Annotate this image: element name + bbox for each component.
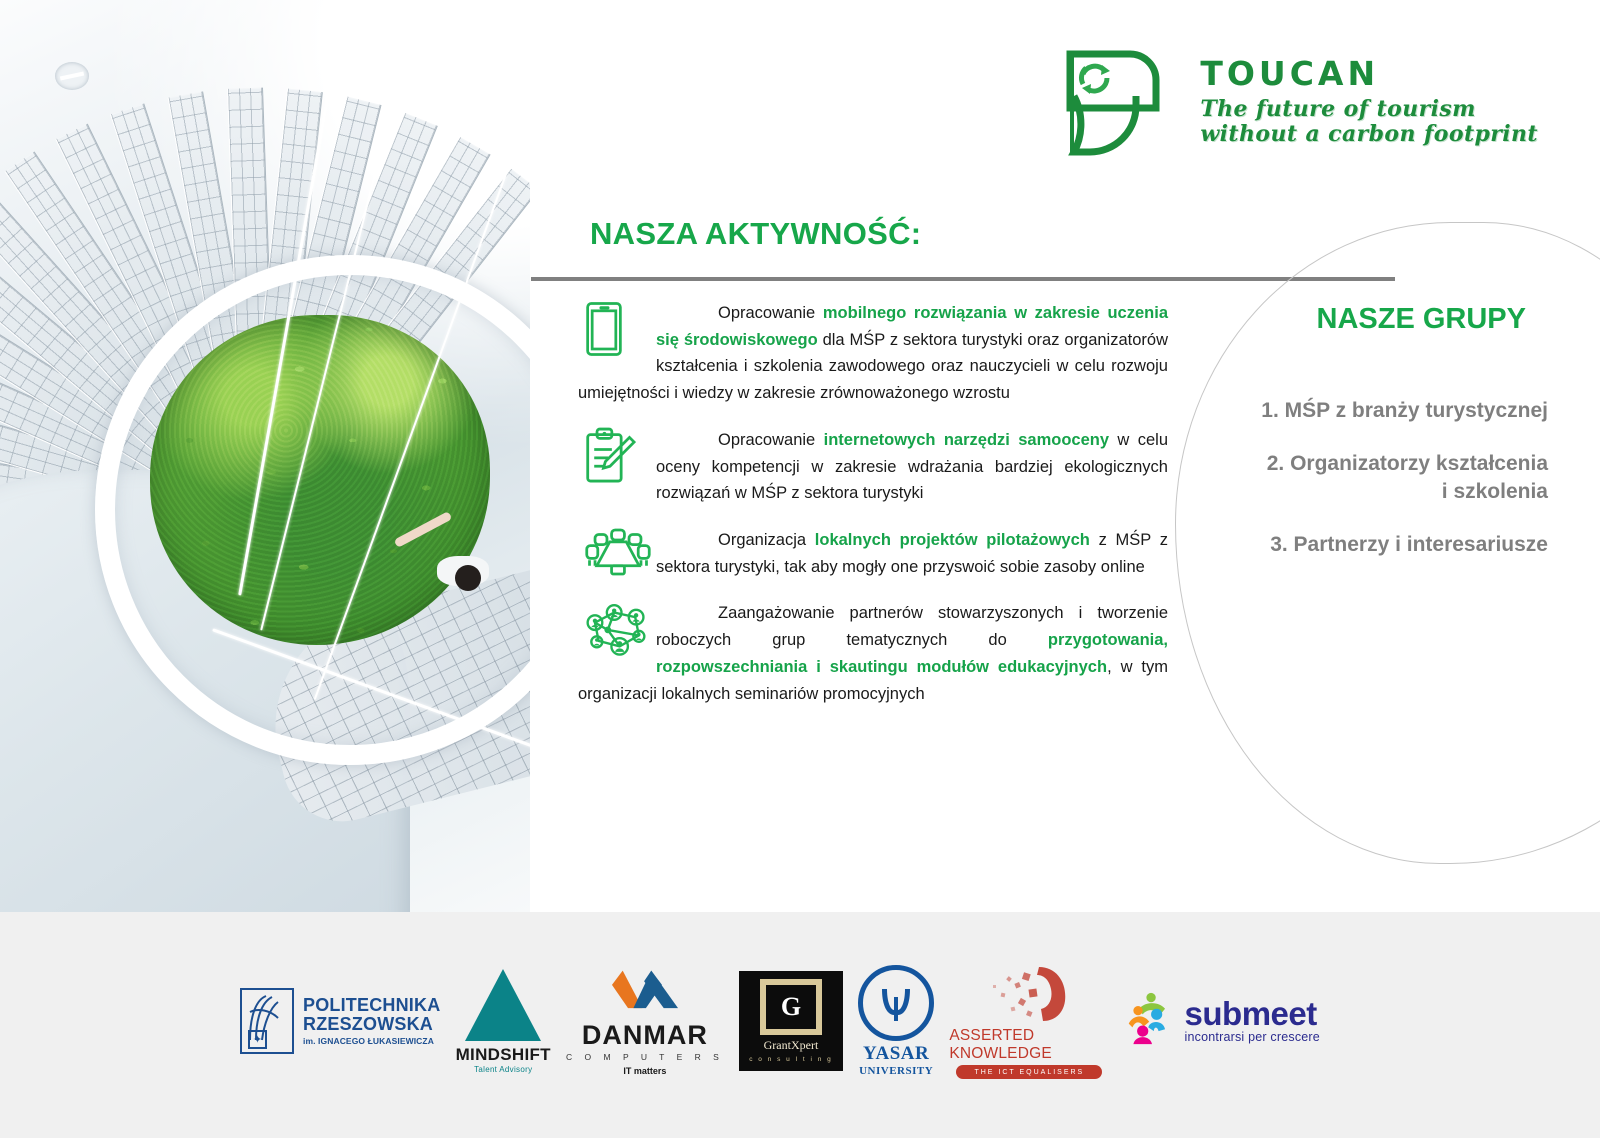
group-item: 1. MŚP z branży turystycznej <box>1158 397 1548 424</box>
submeet-people-icon <box>1125 990 1179 1053</box>
activity-body: Organizacja lokalnych projektów pilotażo… <box>656 531 1168 576</box>
yasar-university-logo: YASAR UNIVERSITY <box>858 965 934 1077</box>
activity-highlight: internetowych narzędzi samooceny <box>824 431 1109 449</box>
asserted-knowledge-logo: ASSERTED KNOWLEDGE THE ICT EQUALISERS <box>949 963 1109 1079</box>
groups-list: 1. MŚP z branży turystycznej 2. Organiza… <box>1158 397 1548 558</box>
danmar-peaks-icon <box>595 967 695 1022</box>
activity-text: Zaangażowanie partnerów stowarzyszonych … <box>578 600 1168 707</box>
group-item: 3. Partnerzy i interesariusze <box>1158 531 1548 558</box>
grantxpert-consulting-logo: G GrantXpert c o n s u l t i n g <box>739 971 843 1071</box>
yasar-mark-icon <box>858 965 934 1041</box>
asserted-knowledge-face-icon <box>981 963 1077 1025</box>
activity-plain: Opracowanie <box>718 431 824 449</box>
spiral-staircase-greenery-photo <box>0 0 530 912</box>
partner-line-2: UNIVERSITY <box>859 1065 933 1077</box>
toucan-logo: TOUCAN The future of tourism without a c… <box>1052 40 1538 160</box>
clipboard-pencil-icon <box>584 427 656 489</box>
fixture-detail <box>55 62 89 90</box>
partner-line-2: C O M P U T E R S <box>566 1052 724 1062</box>
mindshift-triangle-icon <box>465 969 541 1041</box>
activity-text: Opracowanie internetowych narzędzi samoo… <box>578 427 1168 507</box>
people-network-icon <box>584 600 656 664</box>
activity-item: Zaangażowanie partnerów stowarzyszonych … <box>578 600 1168 707</box>
conference-table-icon <box>584 527 656 583</box>
brand-name: TOUCAN <box>1200 54 1538 93</box>
activity-plain: Opracowanie <box>718 304 823 322</box>
group-item: 2. Organizatorzy kształcenia i szkolenia <box>1158 450 1548 505</box>
partner-line-1: DANMAR <box>582 1022 708 1049</box>
mindshift-logo: MINDSHIFT Talent Advisory <box>456 969 551 1074</box>
partner-line-1: GrantXpert <box>764 1038 819 1053</box>
partner-line-1: YASAR <box>863 1043 929 1065</box>
title-divider <box>531 277 1395 281</box>
partner-line-1: submeet <box>1185 998 1320 1029</box>
brand-tagline: The future of tourism without a carbon f… <box>1200 97 1538 146</box>
partner-line-2: RZESZOWSKA <box>303 1015 440 1034</box>
partner-line-1: POLITECHNIKA <box>303 996 440 1015</box>
politechnika-mark-icon: ✦ <box>240 988 294 1054</box>
groups-title: NASZE GRUPY <box>1158 300 1548 339</box>
activity-item: Organizacja lokalnych projektów pilotażo… <box>578 527 1168 580</box>
activity-plain: Organizacja <box>718 531 815 549</box>
danmar-computers-logo: DANMAR C O M P U T E R S IT matters <box>566 967 724 1076</box>
partner-line-2: THE ICT EQUALISERS <box>956 1065 1102 1079</box>
submeet-logo: submeet incontrarsi per crescere <box>1125 990 1320 1053</box>
partner-line-3: im. IGNACEGO ŁUKASIEWICZA <box>303 1037 440 1046</box>
partner-line-2: c o n s u l t i n g <box>749 1056 833 1063</box>
partner-line-2: Talent Advisory <box>474 1065 532 1074</box>
partner-logos-row: ✦ POLITECHNIKA RZESZOWSKA im. IGNACEGO Ł… <box>240 946 1320 1096</box>
activity-text: Opracowanie mobilnego rozwiązania w zakr… <box>578 300 1168 407</box>
activity-body: Opracowanie internetowych narzędzi samoo… <box>656 431 1168 502</box>
target-groups-panel: NASZE GRUPY 1. MŚP z branży turystycznej… <box>1158 300 1548 584</box>
activity-item: Opracowanie mobilnego rozwiązania w zakr… <box>578 300 1168 407</box>
politechnika-rzeszowska-logo: ✦ POLITECHNIKA RZESZOWSKA im. IGNACEGO Ł… <box>240 988 440 1054</box>
activity-text: Organizacja lokalnych projektów pilotażo… <box>578 527 1168 580</box>
partner-line-3: IT matters <box>623 1066 666 1076</box>
activity-highlight: lokalnych projektów pilotażowych <box>815 531 1090 549</box>
toucan-recycle-icon <box>1052 40 1180 160</box>
partner-line-1: MINDSHIFT <box>456 1045 551 1065</box>
grantxpert-mark-icon: G <box>760 979 822 1035</box>
partner-line-2: incontrarsi per crescere <box>1185 1030 1320 1044</box>
person-head <box>455 565 481 591</box>
activities-list: Opracowanie mobilnego rozwiązania w zakr… <box>578 300 1168 727</box>
page-title: NASZA AKTYWNOŚĆ: <box>590 216 921 252</box>
partner-line-1: ASSERTED KNOWLEDGE <box>949 1027 1109 1063</box>
politechnika-badge-icon: ✦ <box>248 1030 267 1049</box>
mobile-phone-icon <box>584 300 656 366</box>
activity-item: Opracowanie internetowych narzędzi samoo… <box>578 427 1168 507</box>
partner-logos-footer: ✦ POLITECHNIKA RZESZOWSKA im. IGNACEGO Ł… <box>0 912 1600 1138</box>
